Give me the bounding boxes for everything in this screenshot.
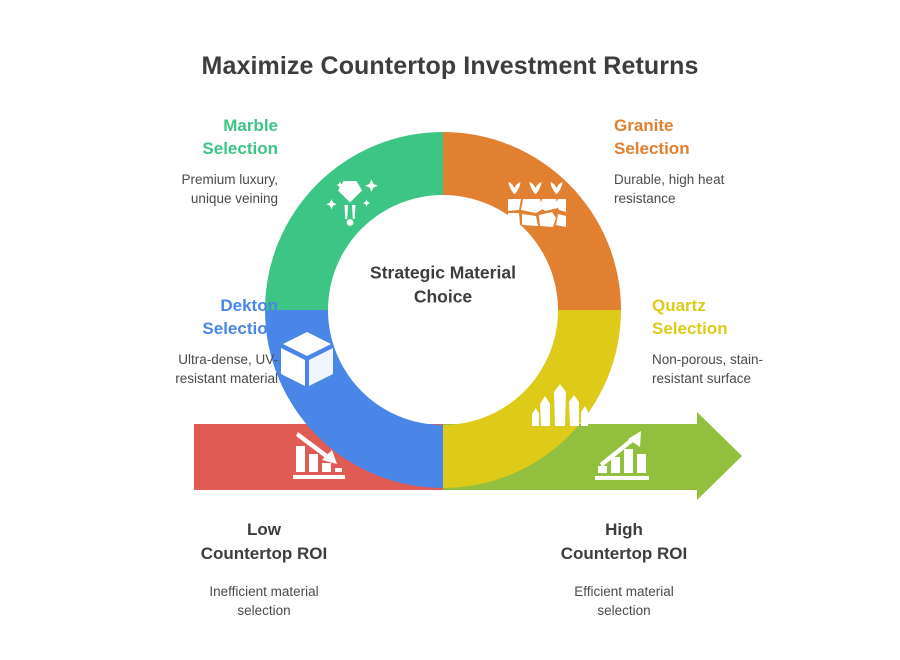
segment-quartz-desc-line2: resistant surface xyxy=(652,369,832,388)
segment-label-granite[interactable]: Granite Selection Durable, high heat res… xyxy=(614,114,794,208)
segment-dekton-arc[interactable] xyxy=(263,310,443,490)
segment-marble-arc[interactable] xyxy=(263,130,443,310)
outcome-label-high-roi[interactable]: High Countertop ROI Efficient material s… xyxy=(484,518,764,621)
segment-label-dekton[interactable]: Dekton Selection Ultra-dense, UV- resist… xyxy=(98,294,278,388)
segment-quartz-arc[interactable] xyxy=(443,310,623,490)
segment-label-quartz[interactable]: Quartz Selection Non-porous, stain- resi… xyxy=(652,294,832,388)
outcome-high-roi-title-line1: High xyxy=(484,518,764,542)
segment-marble-title-line2: Selection xyxy=(98,137,278,160)
segment-dekton-desc-line2: resistant material xyxy=(98,369,278,388)
segment-marble-title-line1: Marble xyxy=(98,114,278,137)
segment-dekton-desc-line1: Ultra-dense, UV- xyxy=(98,350,278,369)
segment-quartz-desc-line1: Non-porous, stain- xyxy=(652,350,832,369)
infographic-canvas: Maximize Countertop Investment Returns xyxy=(0,0,900,660)
segment-granite-desc-line1: Durable, high heat xyxy=(614,170,794,189)
outcome-high-roi-desc-line2: selection xyxy=(484,601,764,620)
donut-ring xyxy=(263,130,623,490)
segment-dekton-title-line1: Dekton xyxy=(98,294,278,317)
outcome-low-roi-title-line2: Countertop ROI xyxy=(124,542,404,566)
segment-marble-desc-line1: Premium luxury, xyxy=(98,170,278,189)
segment-label-marble[interactable]: Marble Selection Premium luxury, unique … xyxy=(98,114,278,208)
page-title: Maximize Countertop Investment Returns xyxy=(0,52,900,81)
segment-quartz-title-line1: Quartz xyxy=(652,294,832,317)
outcome-low-roi-desc-line2: selection xyxy=(124,601,404,620)
segment-dekton-title-line2: Selection xyxy=(98,317,278,340)
outcome-label-low-roi[interactable]: Low Countertop ROI Inefficient material … xyxy=(124,518,404,621)
segment-granite-title-line1: Granite xyxy=(614,114,794,137)
outcome-low-roi-desc-line1: Inefficient material xyxy=(124,582,404,601)
segment-granite-desc-line2: resistance xyxy=(614,189,794,208)
segment-granite-title-line2: Selection xyxy=(614,137,794,160)
outcome-high-roi-title-line2: Countertop ROI xyxy=(484,542,764,566)
outcome-low-roi-title-line1: Low xyxy=(124,518,404,542)
segment-quartz-title-line2: Selection xyxy=(652,317,832,340)
outcome-high-roi-desc-line1: Efficient material xyxy=(484,582,764,601)
segment-marble-desc-line2: unique veining xyxy=(98,189,278,208)
